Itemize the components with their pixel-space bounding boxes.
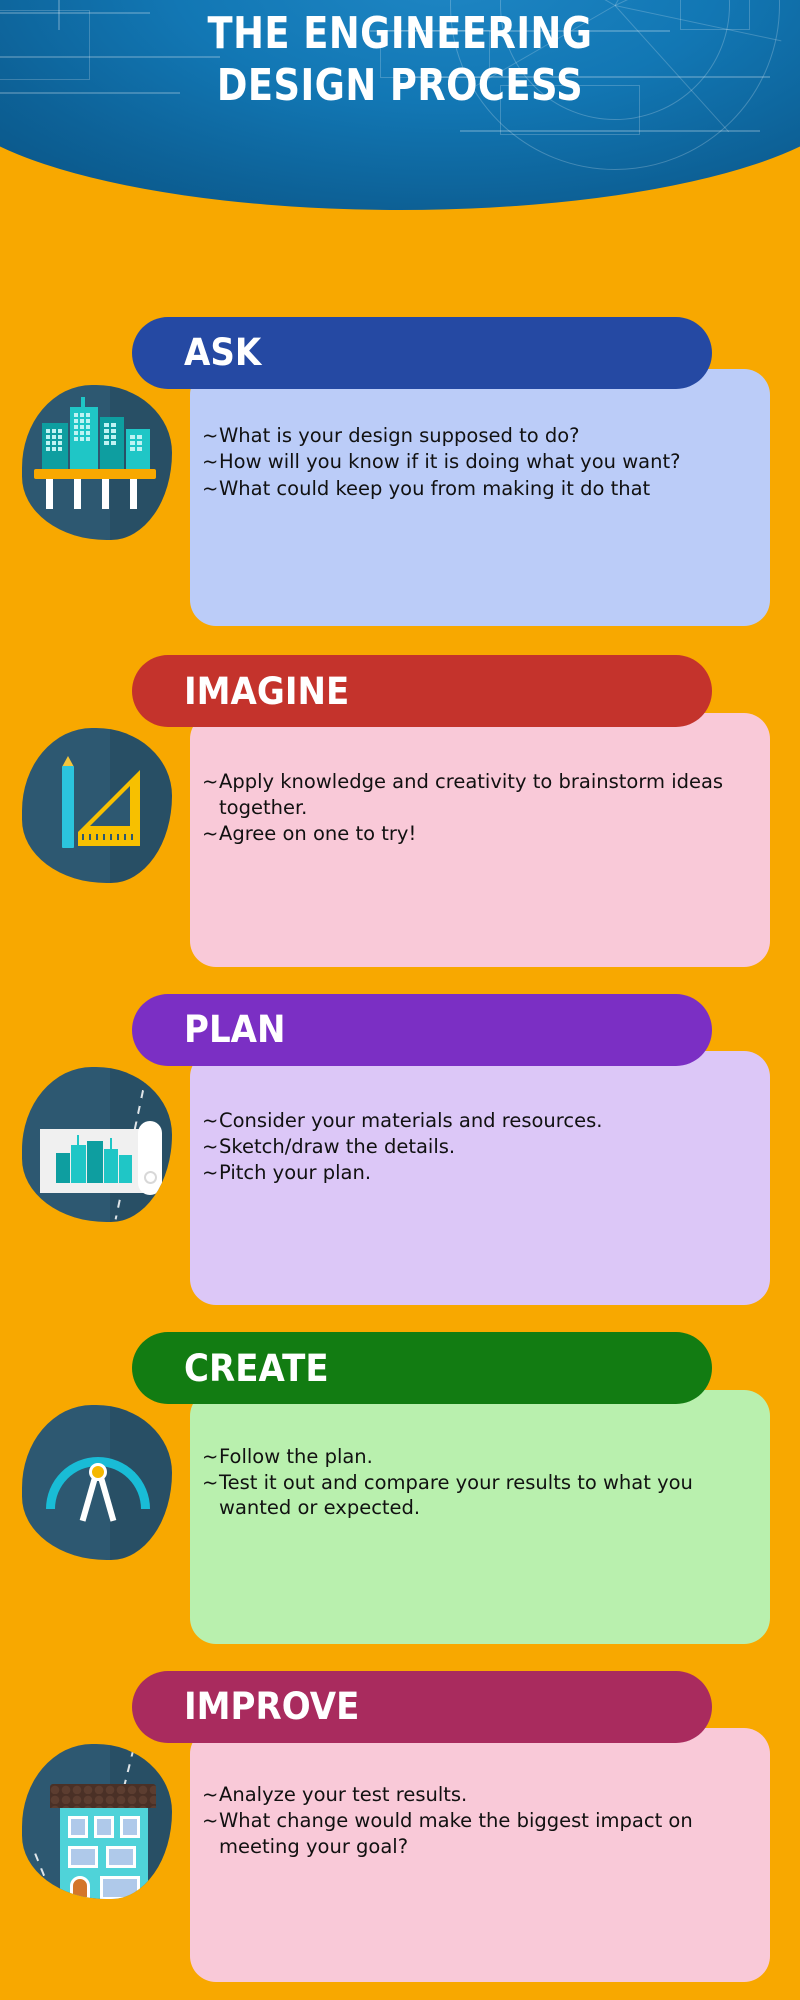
improve-label: IMPROVE bbox=[184, 1685, 359, 1728]
house-roof bbox=[50, 1784, 156, 1808]
bullet-text: Sketch/draw the details. bbox=[219, 1134, 742, 1159]
building bbox=[104, 1149, 118, 1183]
bullet-text: Follow the plan. bbox=[219, 1444, 742, 1469]
improve-header-pill[interactable]: IMPROVE bbox=[132, 1671, 712, 1743]
create-header-pill[interactable]: CREATE bbox=[132, 1332, 712, 1404]
ruler-tick bbox=[131, 834, 133, 840]
ask-header-pill[interactable]: ASK bbox=[132, 317, 712, 389]
create-bullet-list: ~ Follow the plan. ~ Test it out and com… bbox=[202, 1444, 742, 1522]
bullet-marker: ~ bbox=[202, 423, 219, 448]
list-item: ~ Follow the plan. bbox=[202, 1444, 742, 1469]
triangle-ruler-cutout bbox=[90, 786, 130, 826]
bullet-marker: ~ bbox=[202, 1470, 219, 1521]
roll-spiral bbox=[144, 1171, 157, 1184]
windows bbox=[46, 429, 62, 451]
bridge-deck bbox=[34, 469, 156, 479]
antenna bbox=[77, 1135, 79, 1146]
windows bbox=[130, 435, 142, 451]
bullet-text: Test it out and compare your results to … bbox=[219, 1470, 742, 1521]
improve-bullet-list: ~ Analyze your test results. ~ What chan… bbox=[202, 1782, 742, 1860]
bullet-text: Agree on one to try! bbox=[219, 821, 742, 846]
infographic-page: THE ENGINEERING DESIGN PROCESS ASK bbox=[0, 0, 800, 2000]
list-item: ~ Pitch your plan. bbox=[202, 1160, 742, 1185]
antenna bbox=[110, 1138, 112, 1150]
list-item: ~ Consider your materials and resources. bbox=[202, 1108, 742, 1133]
bullet-marker: ~ bbox=[202, 449, 219, 474]
bullet-text: Consider your materials and resources. bbox=[219, 1108, 742, 1133]
bullet-marker: ~ bbox=[202, 1808, 219, 1859]
building bbox=[56, 1153, 70, 1183]
bullet-text: Pitch your plan. bbox=[219, 1160, 742, 1185]
antenna bbox=[81, 397, 85, 409]
imagine-label: IMAGINE bbox=[184, 670, 349, 713]
blueprint-sheet bbox=[40, 1129, 144, 1193]
windows bbox=[104, 423, 116, 445]
blueprint-roll-icon bbox=[22, 1067, 172, 1222]
bullet-marker: ~ bbox=[202, 476, 219, 501]
imagine-bullet-list: ~ Apply knowledge and creativity to brai… bbox=[202, 769, 742, 847]
list-item: ~ Apply knowledge and creativity to brai… bbox=[202, 769, 742, 820]
list-item: ~ What could keep you from making it do … bbox=[202, 476, 742, 501]
protractor-compass-icon bbox=[22, 1405, 172, 1560]
ruler-tick bbox=[82, 834, 84, 840]
bullet-marker: ~ bbox=[202, 821, 219, 846]
bridge-pillar bbox=[130, 479, 137, 509]
plan-header-pill[interactable]: PLAN bbox=[132, 994, 712, 1066]
bullet-text: What change would make the biggest impac… bbox=[219, 1808, 742, 1859]
building bbox=[119, 1155, 132, 1183]
bullet-marker: ~ bbox=[202, 1160, 219, 1185]
compass-hinge bbox=[89, 1463, 107, 1481]
bullet-text: What is your design supposed to do? bbox=[219, 423, 742, 448]
page-title-line2: DESIGN PROCESS bbox=[0, 60, 800, 112]
ruler-tick bbox=[124, 834, 126, 840]
pencil-ruler-icon bbox=[22, 728, 172, 883]
city-bridge-icon bbox=[22, 385, 172, 540]
bullet-marker: ~ bbox=[202, 1108, 219, 1133]
ruler-tick bbox=[96, 834, 98, 840]
header-banner: THE ENGINEERING DESIGN PROCESS bbox=[0, 0, 800, 210]
pencil-body bbox=[62, 766, 74, 848]
create-label: CREATE bbox=[184, 1347, 329, 1390]
house-window bbox=[120, 1816, 140, 1838]
ask-label: ASK bbox=[184, 331, 261, 374]
bridge-pillar bbox=[46, 479, 53, 509]
bullet-text: Apply knowledge and creativity to brains… bbox=[219, 769, 742, 820]
list-item: ~ How will you know if it is doing what … bbox=[202, 449, 742, 474]
house-window bbox=[68, 1846, 98, 1868]
house-window bbox=[94, 1816, 114, 1838]
bullet-marker: ~ bbox=[202, 1444, 219, 1469]
plan-bullet-list: ~ Consider your materials and resources.… bbox=[202, 1108, 742, 1187]
list-item: ~ Sketch/draw the details. bbox=[202, 1134, 742, 1159]
ruler-tick bbox=[103, 834, 105, 840]
plan-label: PLAN bbox=[184, 1008, 285, 1051]
house-window bbox=[100, 1876, 140, 1899]
ruler-tick bbox=[89, 834, 91, 840]
house-window bbox=[106, 1846, 136, 1868]
ruler-tick bbox=[117, 834, 119, 840]
building bbox=[87, 1141, 103, 1183]
list-item: ~ Agree on one to try! bbox=[202, 821, 742, 846]
bullet-text: How will you know if it is doing what yo… bbox=[219, 449, 742, 474]
imagine-header-pill[interactable]: IMAGINE bbox=[132, 655, 712, 727]
dashed-guide bbox=[34, 1853, 52, 1893]
bullet-marker: ~ bbox=[202, 1134, 219, 1159]
bullet-marker: ~ bbox=[202, 1782, 219, 1807]
house-door bbox=[70, 1876, 90, 1899]
page-title-line1: THE ENGINEERING bbox=[208, 8, 593, 59]
ask-bullet-list: ~ What is your design supposed to do? ~ … bbox=[202, 423, 742, 502]
bridge-pillar bbox=[74, 479, 81, 509]
windows bbox=[74, 413, 90, 441]
ruler-tick bbox=[110, 834, 112, 840]
bridge-pillar bbox=[102, 479, 109, 509]
roof-texture bbox=[50, 1784, 156, 1808]
list-item: ~ What is your design supposed to do? bbox=[202, 423, 742, 448]
building bbox=[71, 1145, 86, 1183]
list-item: ~ Test it out and compare your results t… bbox=[202, 1470, 742, 1521]
house-window bbox=[68, 1816, 88, 1838]
list-item: ~ What change would make the biggest imp… bbox=[202, 1808, 742, 1859]
house-icon bbox=[22, 1744, 172, 1899]
bullet-marker: ~ bbox=[202, 769, 219, 820]
bullet-text: Analyze your test results. bbox=[219, 1782, 742, 1807]
bullet-text: What could keep you from making it do th… bbox=[219, 476, 742, 501]
page-title: THE ENGINEERING DESIGN PROCESS bbox=[0, 8, 800, 112]
list-item: ~ Analyze your test results. bbox=[202, 1782, 742, 1807]
